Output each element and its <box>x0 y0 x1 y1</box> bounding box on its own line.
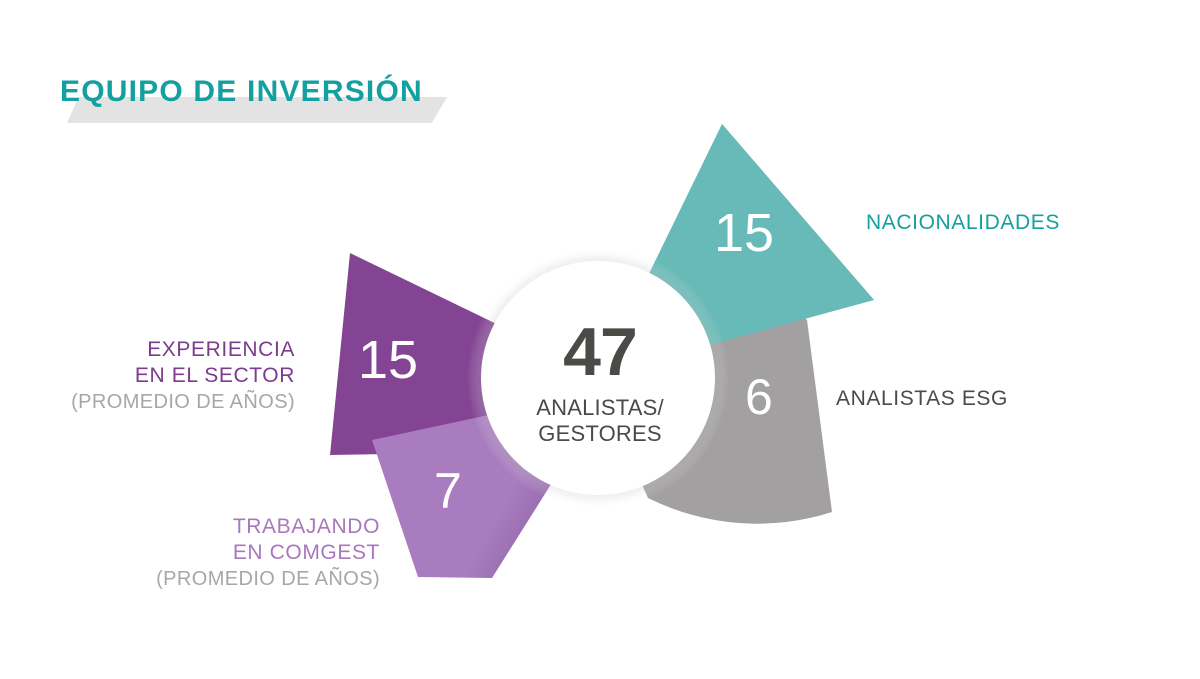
label-experiencia-line2: EN EL SECTOR <box>71 363 295 389</box>
label-analistas-esg-text: ANALISTAS ESG <box>836 386 1008 412</box>
label-analistas-esg[interactable]: ANALISTAS ESG <box>836 386 1008 412</box>
value-nacionalidades: 15 <box>714 206 774 260</box>
label-nacionalidades[interactable]: NACIONALIDADES <box>866 210 1060 236</box>
value-experiencia: 15 <box>358 333 418 387</box>
label-experiencia-sub: (PROMEDIO DE AÑOS) <box>71 389 295 415</box>
infographic-canvas: EQUIPO DE INVERSIÓN <box>0 0 1200 679</box>
value-analistas-esg: 6 <box>745 372 773 422</box>
label-comgest[interactable]: TRABAJANDO EN COMGEST (PROMEDIO DE AÑOS) <box>156 514 380 592</box>
label-nacionalidades-text: NACIONALIDADES <box>866 210 1060 236</box>
center-circle <box>467 247 729 509</box>
label-comgest-sub: (PROMEDIO DE AÑOS) <box>156 566 380 592</box>
value-comgest: 7 <box>434 466 462 516</box>
label-comgest-line1: TRABAJANDO <box>156 514 380 540</box>
label-comgest-line2: EN COMGEST <box>156 540 380 566</box>
label-experiencia-line1: EXPERIENCIA <box>71 337 295 363</box>
label-experiencia[interactable]: EXPERIENCIA EN EL SECTOR (PROMEDIO DE AÑ… <box>71 337 295 415</box>
